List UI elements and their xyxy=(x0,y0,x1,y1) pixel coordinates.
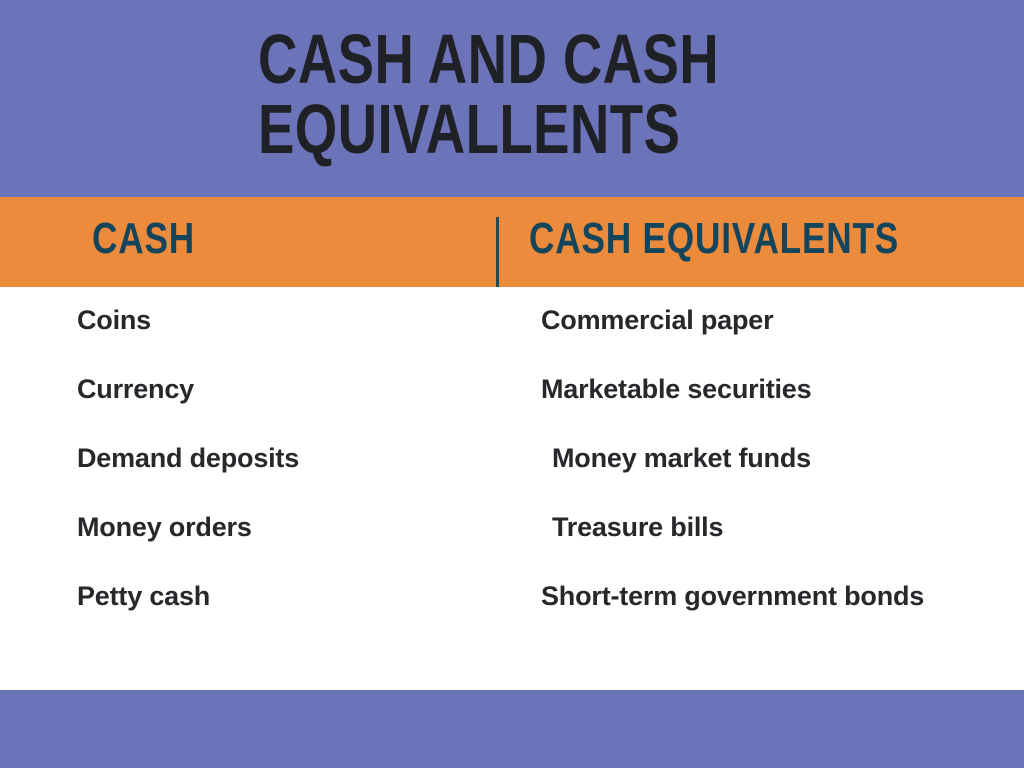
column-header-cash: CASH xyxy=(92,213,195,265)
bottom-color-band xyxy=(0,690,1024,768)
list-item: Short-term government bonds xyxy=(541,580,981,612)
slide-canvas: CASH AND CASH EQUIVALLENTS CASH CASH EQU… xyxy=(0,0,1024,768)
column-header-cash-equivalents: CASH EQUIVALENTS xyxy=(529,213,899,265)
content-area: Coins Currency Demand deposits Money ord… xyxy=(0,287,1024,690)
list-item: Treasure bills xyxy=(541,511,981,543)
page-title: CASH AND CASH EQUIVALLENTS xyxy=(258,24,804,164)
list-item: Money orders xyxy=(77,511,477,543)
list-item: Coins xyxy=(77,304,477,336)
list-item: Marketable securities xyxy=(541,373,981,405)
cash-list: Coins Currency Demand deposits Money ord… xyxy=(77,287,477,649)
list-item: Money market funds xyxy=(541,442,981,474)
list-item: Currency xyxy=(77,373,477,405)
cash-equivalents-list: Commercial paper Marketable securities M… xyxy=(541,287,981,649)
list-item: Commercial paper xyxy=(541,304,981,336)
list-item: Petty cash xyxy=(77,580,477,612)
list-item: Demand deposits xyxy=(77,442,477,474)
